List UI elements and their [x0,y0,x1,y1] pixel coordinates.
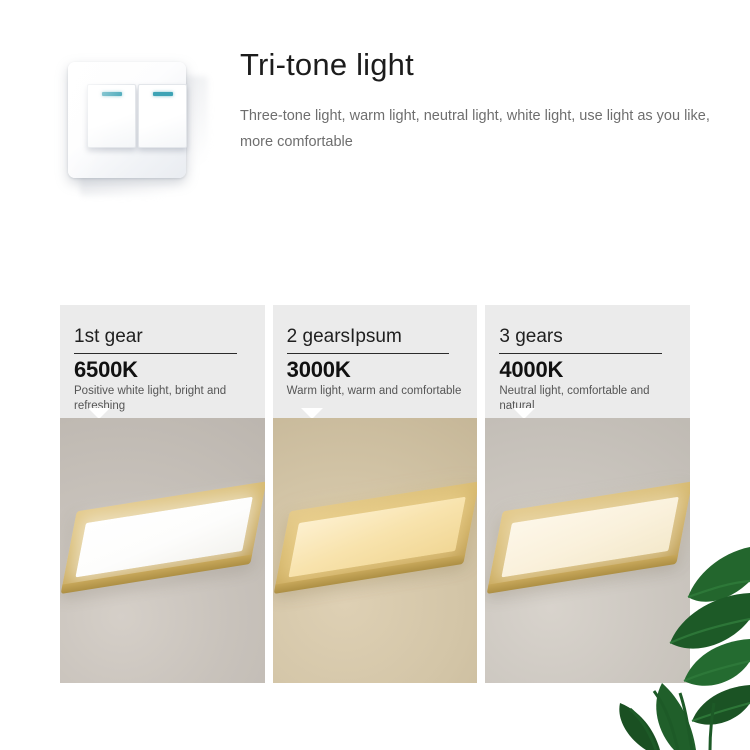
card-divider [287,353,450,354]
card-photo [273,418,478,683]
switch-rocker-left[interactable] [87,84,136,148]
card-kelvin-value: 6500K [74,358,251,382]
card-photo [485,418,690,683]
switch-rocker-right[interactable] [138,84,187,148]
switch-rockers [87,84,187,148]
page-title: Tri-tone light [240,48,710,82]
card-header: 1st gear 6500K Positive white light, bri… [60,305,265,418]
light-mode-card-list: 1st gear 6500K Positive white light, bri… [60,305,690,683]
wall-switch-illustration [58,56,218,196]
card-kelvin-value: 3000K [287,358,464,382]
card-divider [499,353,662,354]
card-header: 3 gears 4000K Neutral light, comfortable… [485,305,690,418]
hero-section: Tri-tone light Three-tone light, warm li… [0,0,750,290]
page-subtitle: Three-tone light, warm light, neutral li… [240,104,710,156]
card-header: 2 gearsIpsum 3000K Warm light, warm and … [273,305,478,418]
led-indicator-icon [153,92,173,96]
card-photo [60,418,265,683]
card-gear-label: 1st gear [74,327,251,347]
card-divider [74,353,237,354]
hero-text-block: Tri-tone light Three-tone light, warm li… [240,48,710,156]
light-mode-card: 1st gear 6500K Positive white light, bri… [60,305,265,683]
card-gear-label: 2 gearsIpsum [287,327,464,347]
card-kelvin-value: 4000K [499,358,676,382]
card-description: Warm light, warm and comfortable [287,384,464,400]
light-mode-card: 3 gears 4000K Neutral light, comfortable… [485,305,690,683]
led-indicator-icon [102,92,122,96]
card-gear-label: 3 gears [499,327,676,347]
switch-faceplate [68,62,186,178]
light-mode-card: 2 gearsIpsum 3000K Warm light, warm and … [273,305,478,683]
